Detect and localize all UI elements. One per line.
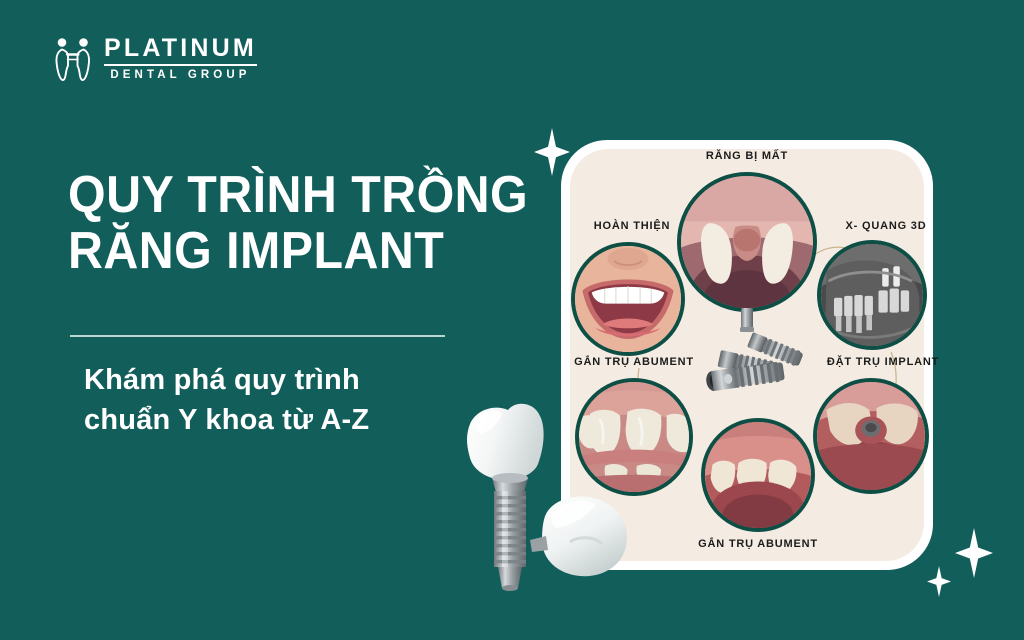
process-step-abutment-gum[interactable]: GẮN TRỤ ABUMENT <box>701 418 815 532</box>
process-step-label: RĂNG BỊ MẤT <box>685 150 809 162</box>
implant-crown-3d-icon <box>442 392 642 602</box>
brand-name: PLATINUM <box>104 36 257 66</box>
abutment-gum-photo <box>701 418 815 532</box>
dental-implant-banner: PLATINUM DENTAL GROUP QUY TRÌNH TRỒNG RĂ… <box>0 0 1024 640</box>
subhead-line-2: chuẩn Y khoa từ A-Z <box>84 400 484 440</box>
process-step-label: HOÀN THIỆN <box>579 220 685 232</box>
sparkle-icon <box>955 528 993 578</box>
page-title: QUY TRÌNH TRỒNG RĂNG IMPLANT <box>68 168 498 279</box>
brand-tagline: DENTAL GROUP <box>104 66 257 82</box>
headline-line-2: RĂNG IMPLANT <box>68 224 468 280</box>
missing-tooth-photo <box>677 172 817 312</box>
subhead-line-1: Khám phá quy trình <box>84 360 484 400</box>
process-step-label: GẮN TRỤ ABUMENT <box>695 538 821 550</box>
title-divider <box>70 335 445 337</box>
process-step-label: GẮN TRỤ ABUMENT <box>573 356 695 368</box>
headline-line-1: QUY TRÌNH TRỒNG <box>68 168 468 224</box>
implant-placement-photo <box>813 378 929 494</box>
process-step-implant-placement[interactable]: ĐẶT TRỤ IMPLANT <box>813 378 929 494</box>
dental-xray-photo <box>817 240 927 350</box>
brand-logo-text: PLATINUM DENTAL GROUP <box>104 36 257 82</box>
brand-logo[interactable]: PLATINUM DENTAL GROUP <box>52 36 257 82</box>
page-subtitle: Khám phá quy trình chuẩn Y khoa từ A-Z <box>84 360 484 440</box>
implant-screws-icon <box>691 306 809 415</box>
finished-smile-photo <box>571 242 685 356</box>
process-step-missing-tooth[interactable]: RĂNG BỊ MẤT <box>677 172 817 312</box>
process-step-label: X- QUANG 3D <box>831 220 941 232</box>
sparkle-icon <box>927 566 951 597</box>
process-step-xray[interactable]: X- QUANG 3D <box>817 240 927 350</box>
process-step-label: ĐẶT TRỤ IMPLANT <box>823 356 943 368</box>
tooth-people-logo-icon <box>52 36 94 82</box>
process-step-finished-smile[interactable]: HOÀN THIỆN <box>571 242 685 356</box>
